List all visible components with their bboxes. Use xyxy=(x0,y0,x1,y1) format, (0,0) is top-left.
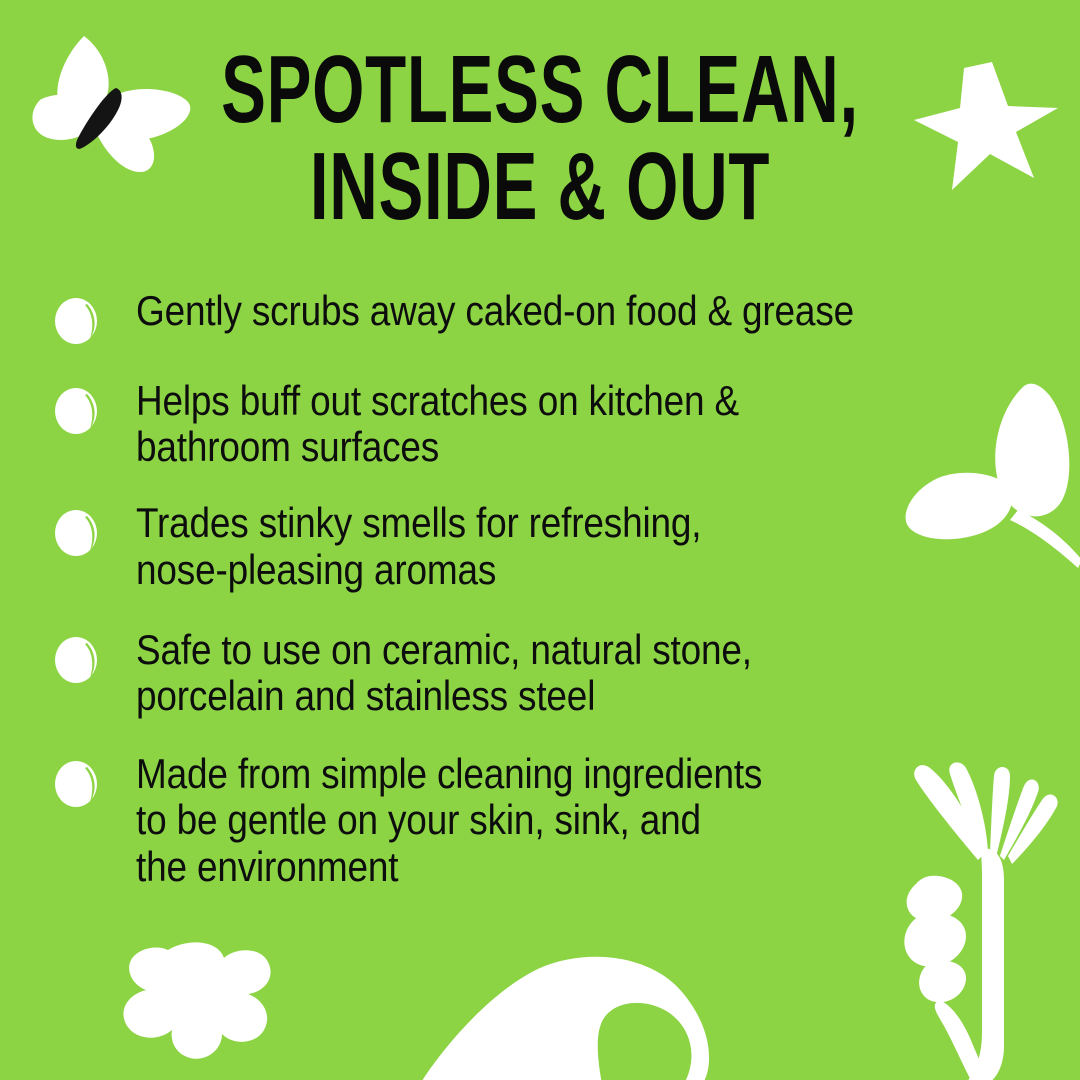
page-title: SPOTLESS CLEAN, INSIDE & OUT xyxy=(0,44,1080,232)
list-item: Made from simple cleaning ingredients to… xyxy=(54,751,1014,890)
headline-line-2: INSIDE & OUT xyxy=(162,141,918,232)
list-item-label: Helps buff out scratches on kitchen & ba… xyxy=(136,378,909,470)
list-item: Gently scrubs away caked-on food & greas… xyxy=(54,288,1014,346)
seed-leaf-icon xyxy=(54,635,100,685)
feature-list: Gently scrubs away caked-on food & greas… xyxy=(54,288,1014,916)
list-item-label: Gently scrubs away caked-on food & greas… xyxy=(136,288,909,334)
seed-leaf-icon xyxy=(54,386,100,436)
seed-leaf-icon xyxy=(54,508,100,558)
list-item: Safe to use on ceramic, natural stone, p… xyxy=(54,627,1014,719)
list-item: Trades stinky smells for refreshing, nos… xyxy=(54,500,1014,592)
wave-leaf-icon xyxy=(420,952,760,1080)
promo-poster: SPOTLESS CLEAN, INSIDE & OUT Gently scru… xyxy=(0,0,1080,1080)
list-item-label: Trades stinky smells for refreshing, nos… xyxy=(136,500,909,592)
flower-icon xyxy=(92,932,302,1080)
headline-line-1: SPOTLESS CLEAN, xyxy=(162,44,918,135)
list-item: Helps buff out scratches on kitchen & ba… xyxy=(54,378,1014,470)
list-item-label: Safe to use on ceramic, natural stone, p… xyxy=(136,627,909,719)
seed-leaf-icon xyxy=(54,296,100,346)
seed-leaf-icon xyxy=(54,759,100,809)
list-item-label: Made from simple cleaning ingredients to… xyxy=(136,751,909,890)
